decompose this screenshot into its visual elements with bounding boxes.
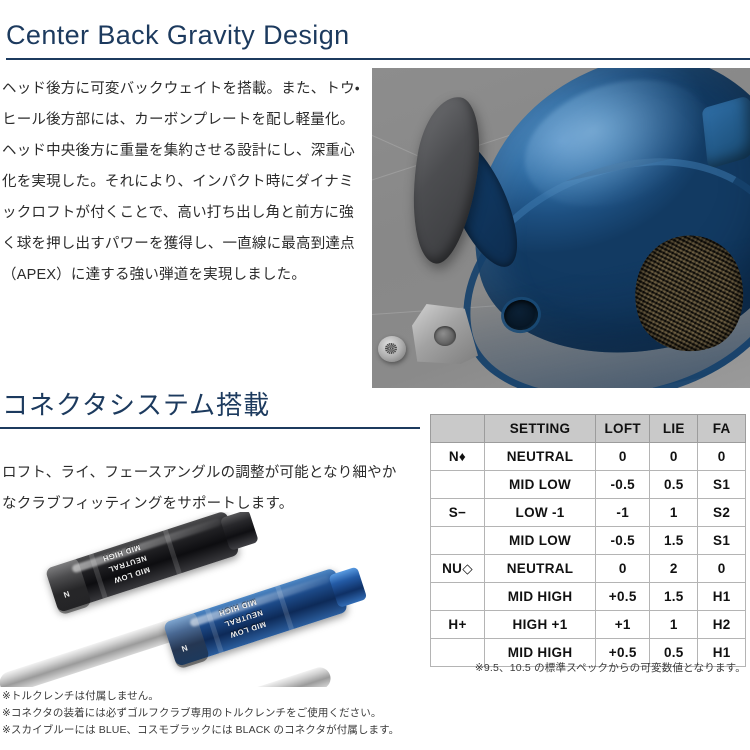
driver-head-exploded-image (372, 68, 750, 388)
cell-code (431, 471, 485, 499)
connector-tip (328, 566, 367, 608)
club-head-hosel-tab (702, 95, 750, 169)
page-title: Center Back Gravity Design (6, 22, 750, 49)
cell-loft: +1 (596, 611, 650, 639)
cell-fa: S1 (698, 527, 746, 555)
section-header-connector-system: コネクタシステム搭載 (0, 392, 420, 429)
cell-setting: NEUTRAL (485, 443, 596, 471)
cell-lie: 1 (650, 499, 698, 527)
cell-setting: HIGH +1 (485, 611, 596, 639)
table-header-row: SETTING LOFT LIE FA (431, 415, 746, 443)
cell-setting: MID LOW (485, 527, 596, 555)
section-header-center-back-gravity-design: Center Back Gravity Design (6, 22, 750, 60)
cell-code: S− (431, 499, 485, 527)
cell-code: N♦ (431, 443, 485, 471)
cell-lie: 0 (650, 443, 698, 471)
connector-blue: N MID HIGH NEUTRAL MID LOW (163, 568, 348, 667)
shaft-blue-unit (117, 665, 333, 687)
table-row: MID LOW -0.5 1.5 S1 (431, 527, 746, 555)
footnote-item: ※コネクタの装着には必ずゴルフクラブ専用のトルクレンチをご使用ください。 (2, 705, 422, 722)
cell-lie: 1.5 (650, 527, 698, 555)
footnote-item: ※スカイブルーには BLUE、コスモブラックには BLACK のコネクタが付属し… (2, 722, 422, 739)
paragraph-text: ロフト、ライ、フェースアングルの調整が可能となり細やかなクラブフィッティングをサ… (2, 458, 402, 520)
connector-highlight (189, 575, 330, 628)
cell-fa: S2 (698, 499, 746, 527)
table-row: H+ HIGH +1 +1 1 H2 (431, 611, 746, 639)
heading-divider (0, 427, 420, 429)
cell-loft: -0.5 (596, 471, 650, 499)
cell-loft: +0.5 (596, 583, 650, 611)
weight-screw (378, 336, 406, 362)
cell-fa: H2 (698, 611, 746, 639)
connector-photo: N MID HIGH NEUTRAL MID LOW N MID HIGH NE… (0, 512, 408, 687)
column-header-loft: LOFT (596, 415, 650, 443)
column-header-fa: FA (698, 415, 746, 443)
table-row: NU◇ NEUTRAL 0 2 0 (431, 555, 746, 583)
cell-code: H+ (431, 611, 485, 639)
cell-loft: -1 (596, 499, 650, 527)
footnotes-block: ※トルクレンチは付属しません。 ※コネクタの装着には必ずゴルフクラブ専用のトルク… (2, 688, 422, 739)
connector-settings-table: SETTING LOFT LIE FA N♦ NEUTRAL 0 0 0 MID… (430, 414, 746, 667)
cell-lie: 0.5 (650, 471, 698, 499)
cell-loft: -0.5 (596, 527, 650, 555)
cell-fa: S1 (698, 471, 746, 499)
table-footnote: ※9.5、10.5 の標準スペックからの可変数値となります。 (430, 660, 746, 675)
connector-black: N MID HIGH NEUTRAL MID LOW (45, 512, 240, 613)
cell-setting: LOW -1 (485, 499, 596, 527)
cell-loft: 0 (596, 443, 650, 471)
table-row: N♦ NEUTRAL 0 0 0 (431, 443, 746, 471)
table-body: N♦ NEUTRAL 0 0 0 MID LOW -0.5 0.5 S1 S− … (431, 443, 746, 667)
footnote-item: ※トルクレンチは付属しません。 (2, 688, 422, 705)
table-header: SETTING LOFT LIE FA (431, 415, 746, 443)
cell-code (431, 527, 485, 555)
cell-code: NU◇ (431, 555, 485, 583)
column-header-setting: SETTING (485, 415, 596, 443)
table-row: MID LOW -0.5 0.5 S1 (431, 471, 746, 499)
cell-lie: 1 (650, 611, 698, 639)
cell-code (431, 583, 485, 611)
heading-divider (6, 58, 750, 60)
cell-lie: 1.5 (650, 583, 698, 611)
cell-lie: 2 (650, 555, 698, 583)
connector-tip (220, 512, 259, 551)
cell-setting: MID LOW (485, 471, 596, 499)
cell-setting: MID HIGH (485, 583, 596, 611)
cell-loft: 0 (596, 555, 650, 583)
table-row: MID HIGH +0.5 1.5 H1 (431, 583, 746, 611)
description-paragraph-connector-system: ロフト、ライ、フェースアングルの調整が可能となり細やかなクラブフィッティングをサ… (2, 458, 402, 520)
cell-fa: 0 (698, 443, 746, 471)
cell-fa: H1 (698, 583, 746, 611)
column-header-lie: LIE (650, 415, 698, 443)
cell-setting: NEUTRAL (485, 555, 596, 583)
cell-fa: 0 (698, 555, 746, 583)
description-paragraph-gravity-design: ヘッド後方に可変バックウェイトを搭載。また、トウ・ヒール後方部には、カーボンプレ… (2, 74, 362, 291)
table-row: S− LOW -1 -1 1 S2 (431, 499, 746, 527)
column-header-code (431, 415, 485, 443)
back-weight-bore (434, 326, 456, 346)
section-title: コネクタシステム搭載 (0, 392, 420, 418)
paragraph-text: ヘッド後方に可変バックウェイトを搭載。また、トウ・ヒール後方部には、カーボンプレ… (2, 74, 362, 291)
